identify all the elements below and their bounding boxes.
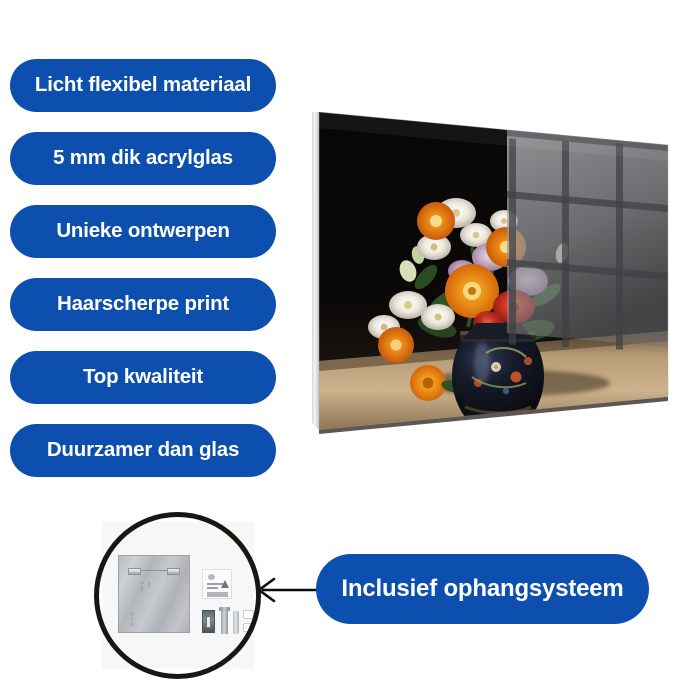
plate-label-thickness: 5 mm [139, 582, 145, 593]
card-text-line-1 [207, 583, 223, 585]
feature-badge-top-kwaliteit: Top kwaliteit [10, 351, 276, 404]
card-text-line-2 [207, 587, 218, 589]
feature-badge-licht-flexibel-materiaal: Licht flexibel materiaal [10, 59, 276, 112]
feature-badge-duurzamer-dan-glas: Duurzamer dan glas [10, 424, 276, 477]
product-marketing-image: Licht flexibel materiaal 5 mm dik acrylg… [0, 0, 700, 700]
flower-vase [452, 323, 544, 417]
mounting-screw [221, 607, 228, 634]
feature-badge-haarscherpe-print: Haarscherpe print [10, 278, 276, 331]
wall-bracket-inner [206, 616, 211, 628]
wall-plug [233, 611, 239, 634]
spacer-pad-1 [243, 610, 254, 619]
card-diagram-circle [208, 574, 215, 580]
mounting-kit-circle-callout: 5 mm AC 50 x 30 [94, 512, 261, 679]
spacer-pad-2 [243, 623, 254, 632]
mounting-kit-photo: 5 mm AC 50 x 30 [102, 522, 254, 669]
plate-clip-left [128, 568, 141, 575]
acrylic-edge-left [312, 112, 319, 430]
feature-badge-unieke-ontwerpen: Unieke ontwerpen [10, 205, 276, 258]
plate-clip-right [167, 568, 180, 575]
wall-bracket [202, 610, 215, 633]
plate-label-material: AC [146, 582, 152, 588]
callout-arrow-icon [248, 572, 324, 608]
window-reflection [507, 130, 668, 350]
card-diagram-block [207, 592, 228, 597]
screw-head [219, 607, 230, 611]
callout-badge-inclusief-ophangsysteem: Inclusief ophangsysteem [316, 554, 649, 624]
artwork-render [300, 95, 680, 445]
instruction-card [202, 569, 232, 599]
mounting-plate: 5 mm AC 50 x 30 [118, 555, 190, 633]
artwork-face [319, 112, 668, 430]
acrylglas-product-panel [300, 95, 680, 445]
plate-label-size: 50 x 30 [129, 612, 135, 627]
feature-badge-5-mm-dik-acrylglas: 5 mm dik acrylglas [10, 132, 276, 185]
